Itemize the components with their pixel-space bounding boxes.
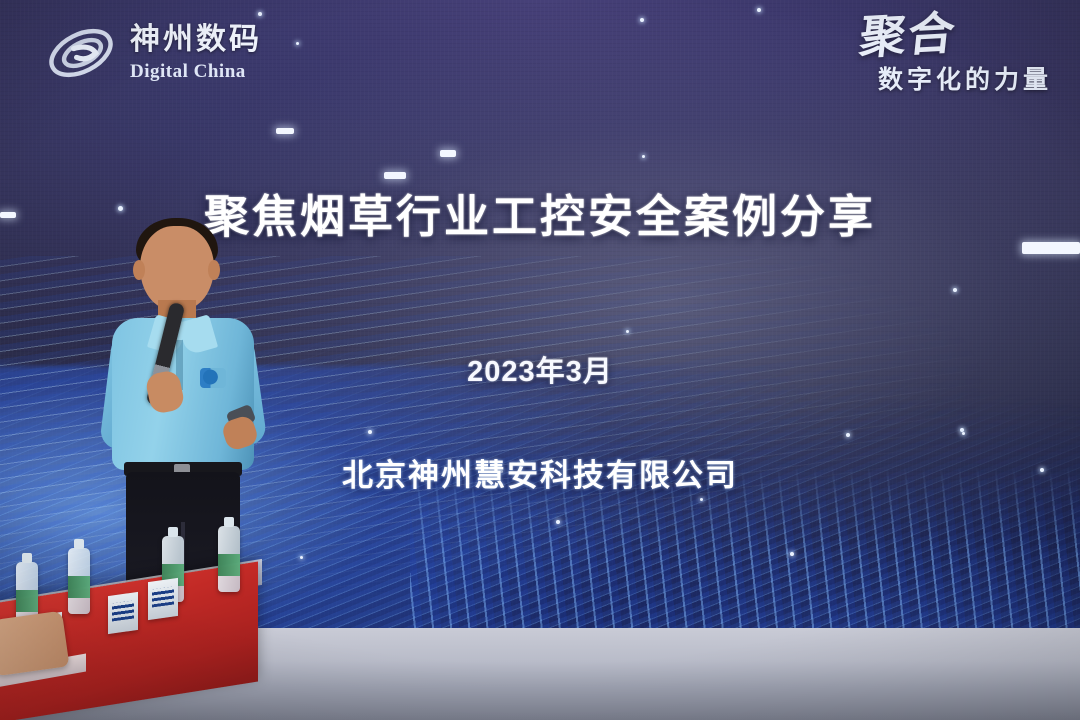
particle-dot: [642, 155, 645, 158]
particle-dot: [962, 432, 965, 435]
event-logo: 聚合 数字化的力量: [860, 14, 1052, 96]
placard-text: [152, 586, 174, 607]
speaker-head: [140, 226, 214, 310]
water-bottle: [68, 548, 90, 614]
swirl-logo-icon: [44, 22, 118, 84]
digital-china-wordmark: 神州数码 Digital China: [130, 25, 262, 81]
brand-name-en: Digital China: [130, 62, 262, 81]
particle-dot: [296, 42, 299, 45]
particle-bar: [276, 128, 294, 134]
placard-text: [112, 600, 134, 621]
event-logo-calligraphy: 聚合: [857, 12, 958, 61]
particle-dot: [953, 288, 957, 292]
water-bottle: [218, 526, 240, 592]
name-placard: [148, 578, 178, 620]
particle-dot: [368, 430, 372, 434]
particle-dot: [700, 498, 703, 501]
foreground-table: [0, 564, 270, 720]
speaker-ear-left: [133, 260, 145, 280]
brand-name-cn: 神州数码: [130, 25, 262, 55]
speaker-ear-right: [208, 260, 220, 280]
name-placard: [108, 592, 138, 634]
particle-dot: [626, 330, 629, 333]
particle-dot: [846, 433, 850, 437]
particle-bar: [440, 150, 456, 157]
particle-dot: [258, 12, 262, 16]
conference-stage-photo: 神州数码 Digital China 聚合 数字化的力量 聚焦烟草行业工控安全案…: [0, 0, 1080, 720]
particle-dot: [790, 552, 794, 556]
particle-dot: [556, 520, 560, 524]
particle-dot: [757, 8, 761, 12]
guest-arm: [0, 611, 69, 678]
particle-dot: [300, 556, 303, 559]
speaker-chest-logo-icon: [200, 368, 226, 388]
particle-dot: [640, 18, 644, 22]
particle-bar: [384, 172, 406, 179]
digital-china-logo: 神州数码 Digital China: [44, 22, 262, 84]
event-logo-subtitle: 数字化的力量: [860, 60, 1052, 96]
